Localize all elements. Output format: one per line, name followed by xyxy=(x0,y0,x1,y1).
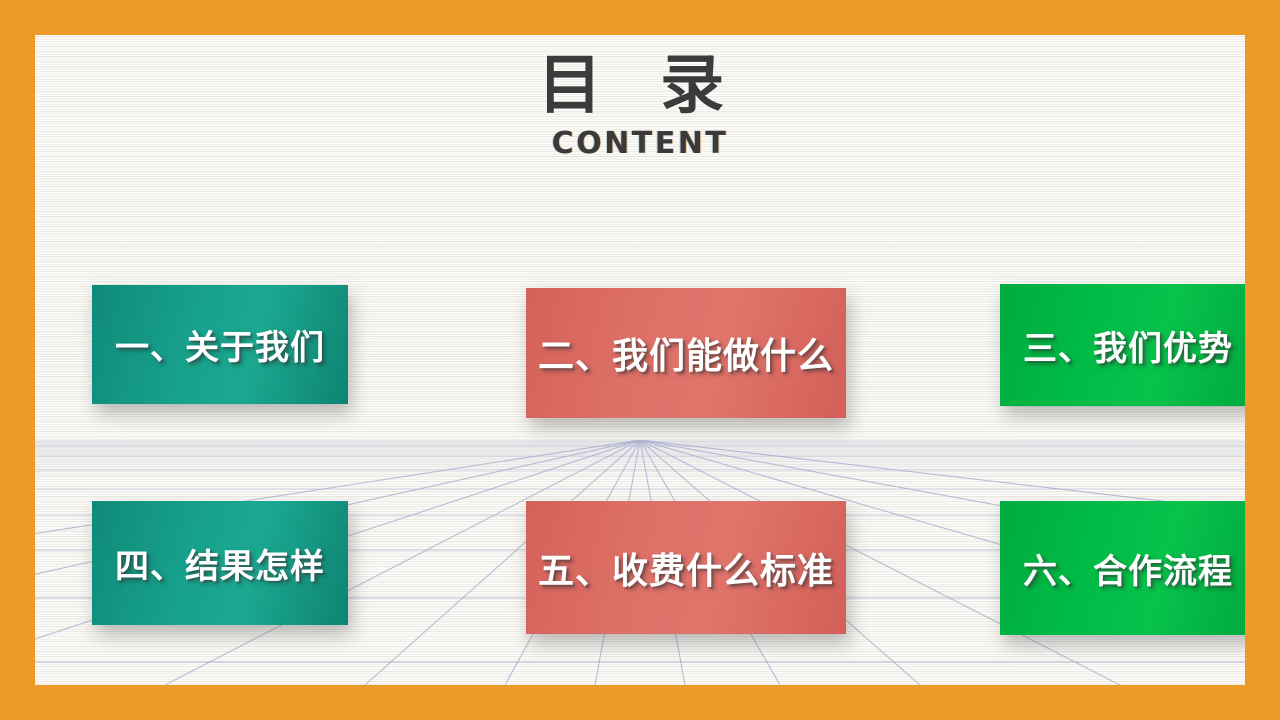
agenda-card-6[interactable]: 六、合作流程 xyxy=(1000,501,1245,635)
agenda-card-2[interactable]: 二、我们能做什么 xyxy=(526,288,846,418)
agenda-card-6-label: 六、合作流程 xyxy=(1023,544,1233,593)
agenda-card-2-label: 二、我们能做什么 xyxy=(538,327,834,379)
title-block: 目 录 CONTENT xyxy=(35,53,1245,161)
agenda-card-4[interactable]: 四、结果怎样 xyxy=(92,501,348,625)
slide-canvas: 目 录 CONTENT 一、关于我们 二、我们能做什么 三、我们优势 四、结果怎… xyxy=(0,0,1280,720)
agenda-card-5[interactable]: 五、收费什么标准 xyxy=(526,501,846,634)
page-subtitle: CONTENT xyxy=(35,126,1245,161)
page-title: 目 录 xyxy=(35,53,1245,120)
agenda-card-4-label: 四、结果怎样 xyxy=(115,539,325,588)
content-panel: 目 录 CONTENT 一、关于我们 二、我们能做什么 三、我们优势 四、结果怎… xyxy=(35,35,1245,685)
agenda-card-3[interactable]: 三、我们优势 xyxy=(1000,284,1245,406)
agenda-card-1-label: 一、关于我们 xyxy=(115,320,325,369)
agenda-card-5-label: 五、收费什么标准 xyxy=(538,542,834,594)
agenda-card-3-label: 三、我们优势 xyxy=(1023,321,1233,370)
agenda-card-1[interactable]: 一、关于我们 xyxy=(92,285,348,404)
